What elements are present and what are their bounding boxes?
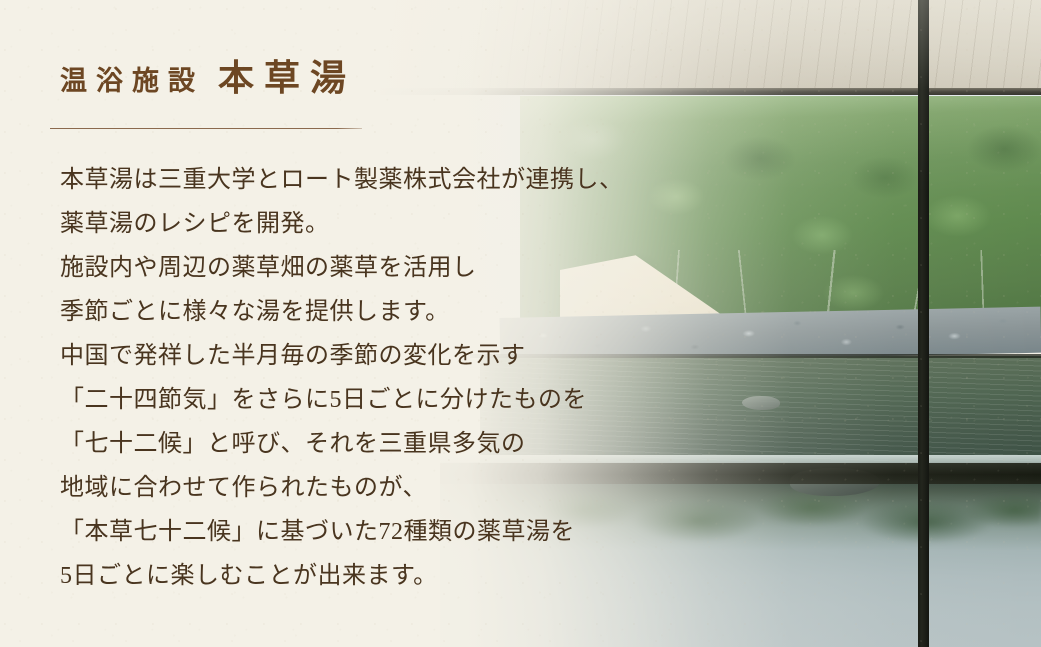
body-line: 「二十四節気」をさらに5日ごとに分けたものを <box>60 378 680 422</box>
page-title-prefix: 温浴施設 <box>60 66 204 96</box>
body-line: 「七十二候」と呼び、それを三重県多気の <box>60 422 680 466</box>
body-line: 本草湯は三重大学とロート製薬株式会社が連携し、 <box>60 158 680 202</box>
text-content: 温浴施設本草湯 本草湯は三重大学とロート製薬株式会社が連携し、 薬草湯のレシピを… <box>0 0 1041 647</box>
body-line: 季節ごとに様々な湯を提供します。 <box>60 290 680 334</box>
page-title-main: 本草湯 <box>218 58 356 98</box>
onsen-info-panel: 温浴施設本草湯 本草湯は三重大学とロート製薬株式会社が連携し、 薬草湯のレシピを… <box>0 0 1041 647</box>
body-line: 5日ごとに楽しむことが出来ます。 <box>60 554 680 598</box>
body-line: 地域に合わせて作られたものが、 <box>60 466 680 510</box>
title-divider <box>50 128 362 129</box>
body-line: 中国で発祥した半月毎の季節の変化を示す <box>60 334 680 378</box>
body-line: 施設内や周辺の薬草畑の薬草を活用し <box>60 246 680 290</box>
body-line: 薬草湯のレシピを開発。 <box>60 202 680 246</box>
page-title: 温浴施設本草湯 <box>60 57 356 101</box>
body-paragraph: 本草湯は三重大学とロート製薬株式会社が連携し、 薬草湯のレシピを開発。 施設内や… <box>60 158 680 598</box>
body-line: 「本草七十二候」に基づいた72種類の薬草湯を <box>60 510 680 554</box>
